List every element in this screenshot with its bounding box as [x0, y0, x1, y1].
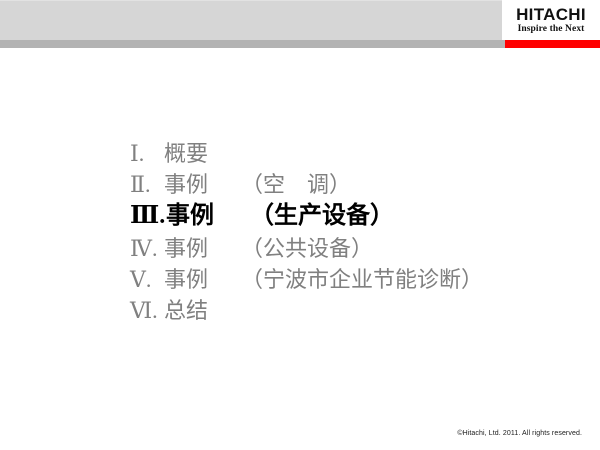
agenda-item-label: 事例: [164, 233, 208, 264]
hitachi-tagline: Inspire the Next: [518, 25, 585, 35]
header-accent-bar: [505, 40, 600, 48]
agenda-item-label: 总结: [164, 295, 208, 326]
agenda-item-label: 事例: [164, 264, 208, 295]
agenda-item-label: 概要: [164, 138, 208, 169]
agenda-item-number: Ⅵ.: [130, 295, 164, 326]
agenda-item[interactable]: Ⅲ.事例 （生产设备）: [130, 200, 580, 233]
agenda-item-detail: （宁波市企业节能诊断）: [208, 264, 483, 295]
agenda-item-detail: （生产设备）: [214, 200, 394, 233]
agenda-list: Ⅰ.概要Ⅱ.事例 （空 调）Ⅲ.事例 （生产设备）Ⅳ.事例 （公共设备）Ⅴ.事例…: [130, 138, 580, 326]
agenda-item[interactable]: Ⅰ.概要: [130, 138, 580, 169]
agenda-item-number: Ⅳ.: [130, 233, 164, 264]
agenda-item[interactable]: Ⅱ.事例 （空 调）: [130, 169, 580, 200]
agenda-item-number: Ⅱ.: [130, 169, 164, 200]
agenda-item-detail: （空 调）: [208, 169, 351, 200]
hitachi-wordmark: HITACHI: [516, 6, 586, 23]
agenda-item[interactable]: Ⅴ.事例 （宁波市企业节能诊断）: [130, 264, 580, 295]
agenda-item-number: Ⅰ.: [130, 138, 164, 169]
agenda-item-detail: （公共设备）: [208, 233, 373, 264]
copyright-notice: ©Hitachi, Ltd. 2011. All rights reserved…: [457, 430, 582, 437]
slide-header: HITACHI Inspire the Next: [0, 0, 600, 48]
agenda-item[interactable]: Ⅳ.事例 （公共设备）: [130, 233, 580, 264]
agenda-item-label: 事例: [166, 200, 214, 233]
agenda-item-number: Ⅲ.: [130, 200, 166, 233]
agenda-item-label: 事例: [164, 169, 208, 200]
hitachi-logo: HITACHI Inspire the Next: [502, 0, 600, 40]
agenda-item[interactable]: Ⅵ.总结: [130, 295, 580, 326]
agenda-item-number: Ⅴ.: [130, 264, 164, 295]
